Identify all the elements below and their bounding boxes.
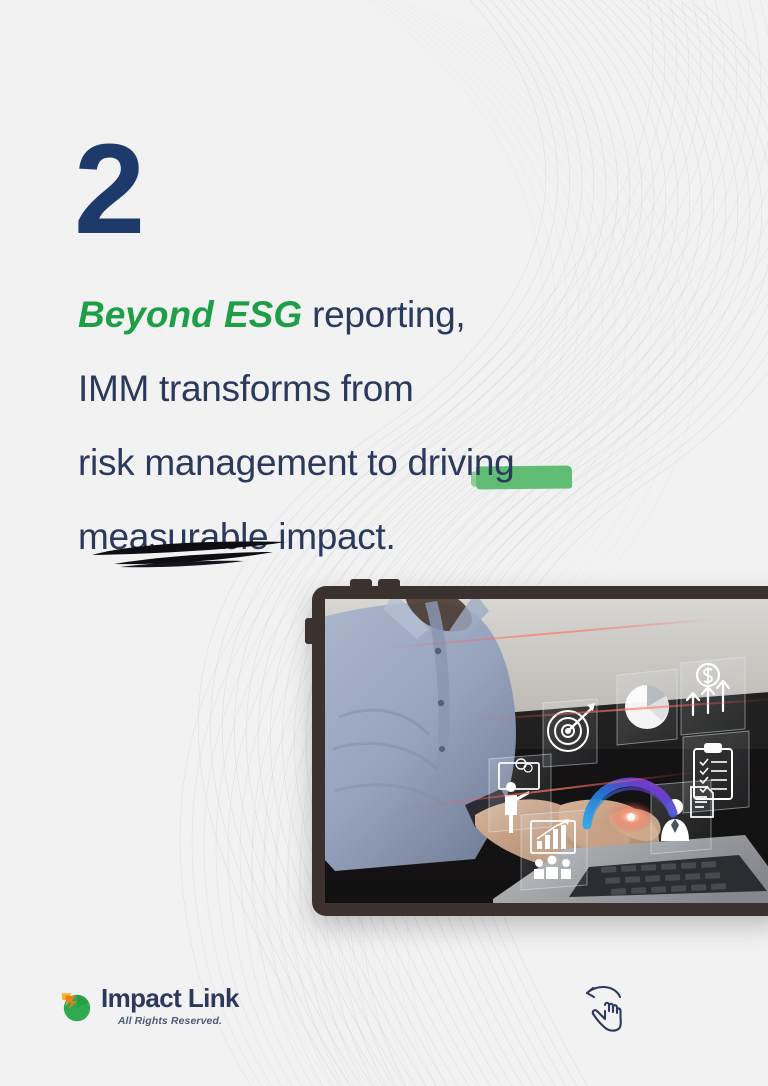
laptop-hologram-photo [325, 599, 768, 903]
brand-rights-text: All Rights Reserved. [118, 1015, 222, 1027]
brand-text-block: Impact Link All Rights Reserved. [101, 985, 239, 1027]
headline-line-1-rest: reporting, [302, 294, 465, 335]
swipe-hand-icon[interactable] [575, 980, 637, 1042]
headline: Beyond ESG reporting, IMM transforms fro… [78, 278, 698, 574]
headline-line-3: risk management to driving [78, 426, 698, 500]
device-screen [325, 599, 768, 903]
slide-page: 2 Beyond ESG reporting, IMM transforms f… [0, 0, 768, 1086]
brand-logo: Impact Link All Rights Reserved. [58, 985, 239, 1027]
device-button-top-2 [378, 579, 400, 588]
device-button-top-1 [350, 579, 372, 588]
device-button-side [305, 618, 314, 644]
slide-number: 2 [74, 126, 143, 254]
impact-link-logo-icon [58, 989, 92, 1023]
headline-line-1: Beyond ESG reporting, [78, 278, 698, 352]
tablet-device [312, 586, 768, 916]
brand-name: Impact Link [101, 985, 239, 1012]
brush-underline-swoosh [90, 538, 295, 572]
headline-line-2: IMM transforms from [78, 352, 698, 426]
headline-emphasis-beyond-esg: Beyond ESG [78, 294, 302, 335]
